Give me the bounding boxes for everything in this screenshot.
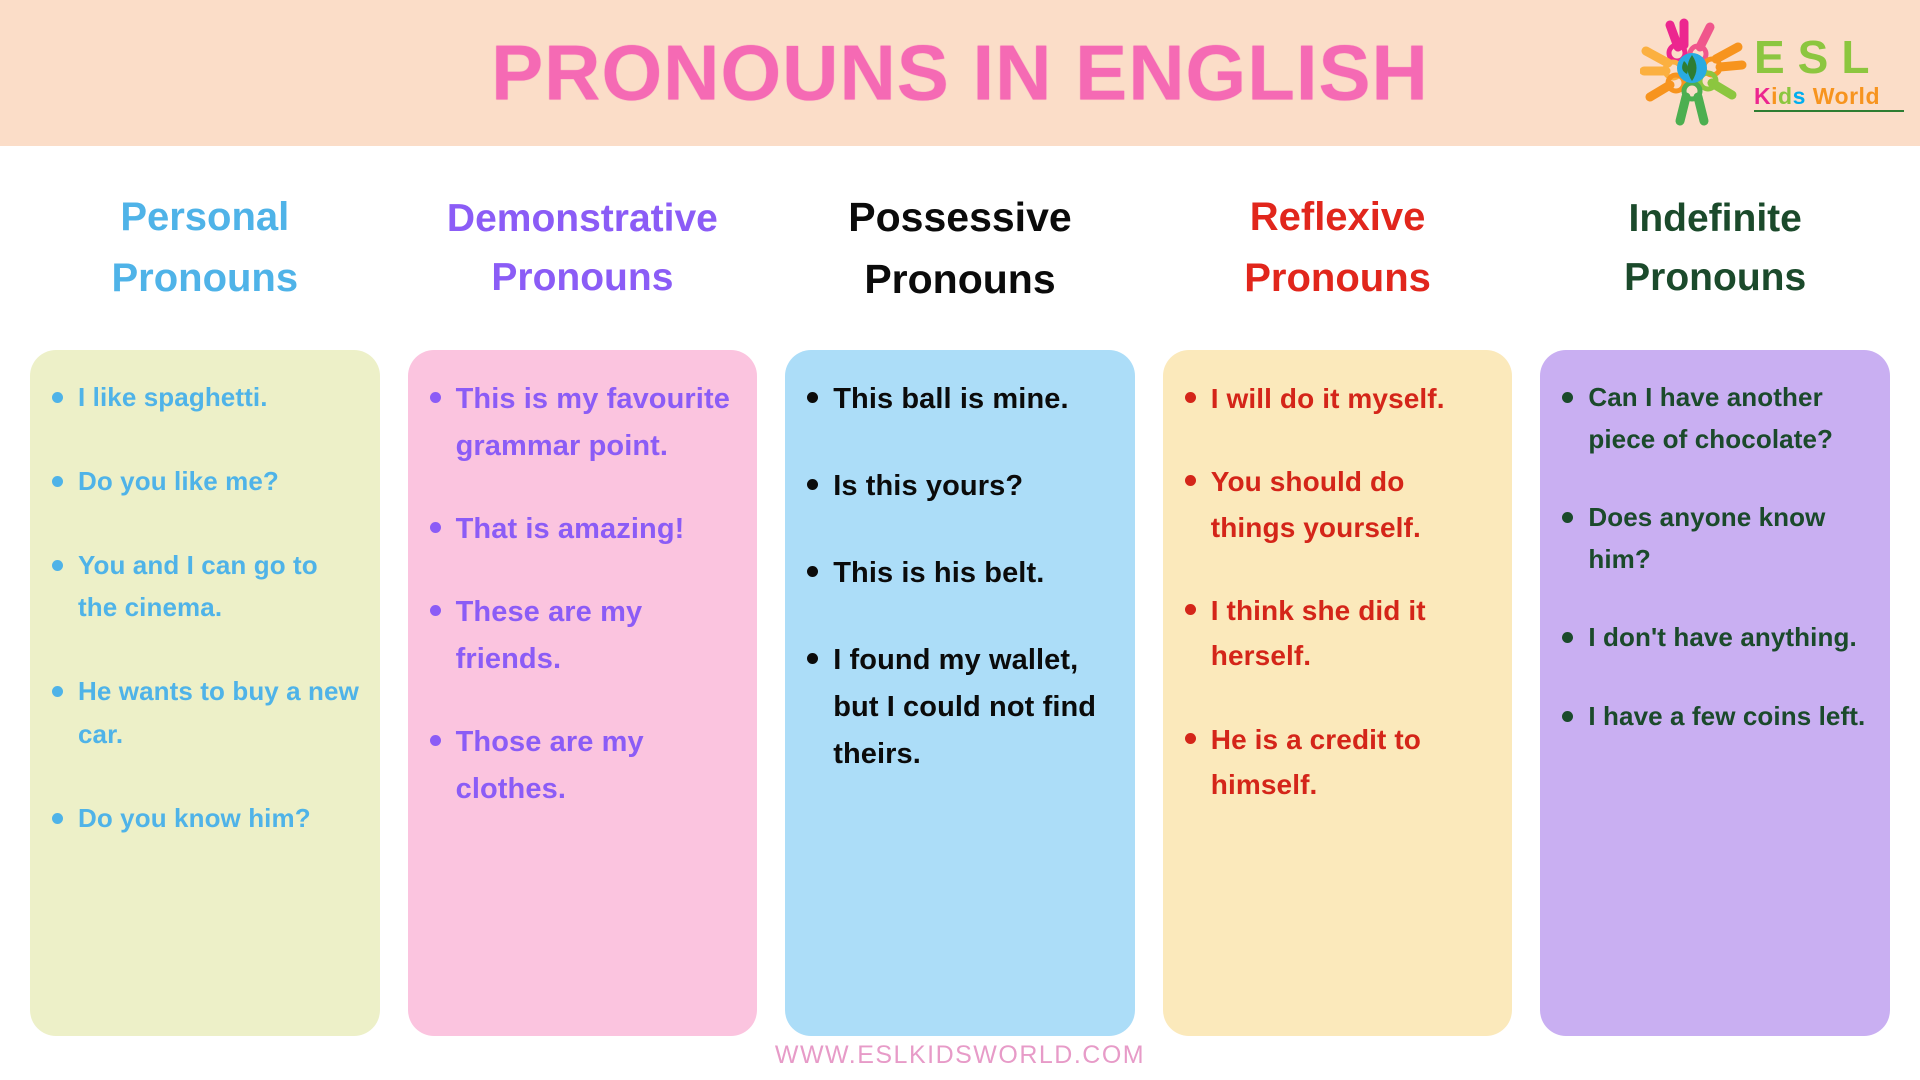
card-indefinite: Can I have another piece of chocolate? D… [1540,350,1890,1036]
list-item: Can I have another piece of chocolate? [1554,376,1872,460]
heading-line-2: Pronouns [1624,248,1806,307]
list-item-text: These are my friends. [456,596,643,675]
heading-line-1: Reflexive [1250,187,1426,248]
example-list-possessive: This ball is mine. Is this yours? This i… [799,376,1117,778]
column-personal: Personal Pronouns I like spaghetti. Do y… [30,146,380,1036]
card-personal: I like spaghetti. Do you like me? You an… [30,350,380,1036]
list-item: This ball is mine. [799,376,1117,423]
list-item-text: I think she did it herself. [1211,595,1426,671]
bullet-dot [1562,512,1573,523]
list-item: I think she did it herself. [1177,588,1495,679]
bullet-dot [1185,475,1196,486]
bullet-dot [430,522,441,533]
bullet-dot [52,686,63,697]
bullet-dot [52,476,63,487]
list-item-text: Can I have another piece of chocolate? [1588,382,1833,454]
list-item-text: He wants to buy a new car. [78,676,359,748]
list-item: Do you like me? [44,460,362,502]
pronoun-columns: Personal Pronouns I like spaghetti. Do y… [0,146,1920,1036]
bullet-dot [430,392,441,403]
list-item: Does anyone know him? [1554,496,1872,580]
esl-kids-world-logo: ESL Kids World [1640,12,1892,134]
column-possessive: Possessive Pronouns This ball is mine. I… [785,146,1135,1036]
list-item-text: This ball is mine. [833,383,1068,415]
list-item-text: Do you like me? [78,466,279,496]
header-band: PRONOUNS IN ENGLISH [0,0,1920,146]
list-item: You should do things yourself. [1177,459,1495,550]
list-item: I will do it myself. [1177,376,1495,421]
list-item-text: I found my wallet, but I could not find … [833,644,1096,770]
column-indefinite: Indefinite Pronouns Can I have another p… [1540,146,1890,1036]
list-item-text: He is a credit to himself. [1211,724,1421,800]
infographic-page: PRONOUNS IN ENGLISH [0,0,1920,1080]
column-demonstrative: Demonstrative Pronouns This is my favour… [408,146,758,1036]
bullet-dot [1185,392,1196,403]
bullet-dot [807,479,818,490]
footer-url: WWW.ESLKIDSWORLD.COM [0,1041,1920,1070]
card-demonstrative: This is my favourite grammar point. That… [408,350,758,1036]
list-item-text: This is my favourite grammar point. [456,383,730,462]
list-item: I like spaghetti. [44,376,362,418]
bullet-dot [807,653,818,664]
logo-wordmark: ESL Kids World [1754,34,1904,112]
logo-underline [1754,110,1904,112]
logo-tagline: Kids World [1754,84,1904,108]
list-item-text: You and I can go to the cinema. [78,550,318,622]
logo-esl-text: ESL [1754,34,1904,80]
heading-line-2: Pronouns [491,248,673,307]
list-item-text: You should do things yourself. [1211,466,1421,542]
list-item-text: Do you know him? [78,803,311,833]
list-item-text: That is amazing! [456,513,685,545]
heading-line-1: Possessive [848,186,1071,248]
list-item-text: Those are my clothes. [456,726,644,805]
list-item-text: I don't have anything. [1588,622,1856,652]
heading-line-1: Personal [120,187,289,248]
list-item: He is a credit to himself. [1177,717,1495,808]
list-item: That is amazing! [422,506,740,553]
bullet-dot [430,735,441,746]
bullet-dot [1562,711,1573,722]
heading-line-2: Pronouns [111,248,298,309]
example-list-indefinite: Can I have another piece of chocolate? D… [1554,376,1872,737]
column-heading-indefinite: Indefinite Pronouns [1540,146,1890,350]
example-list-demonstrative: This is my favourite grammar point. That… [422,376,740,813]
list-item: I found my wallet, but I could not find … [799,637,1117,778]
column-heading-possessive: Possessive Pronouns [785,146,1135,350]
list-item-text: Does anyone know him? [1588,502,1825,574]
list-item: This is his belt. [799,550,1117,597]
bullet-dot [1562,632,1573,643]
bullet-dot [52,392,63,403]
page-title: PRONOUNS IN ENGLISH [0,28,1920,119]
heading-line-1: Demonstrative [447,189,718,248]
heading-line-1: Indefinite [1629,189,1802,248]
heading-line-2: Pronouns [1244,248,1431,309]
heading-line-2: Pronouns [864,248,1055,310]
bullet-dot [807,566,818,577]
example-list-reflexive: I will do it myself. You should do thing… [1177,376,1495,808]
bullet-dot [1562,392,1573,403]
bullet-dot [1185,733,1196,744]
bullet-dot [430,605,441,616]
list-item-text: I like spaghetti. [78,382,268,412]
column-heading-reflexive: Reflexive Pronouns [1163,146,1513,350]
column-heading-personal: Personal Pronouns [30,146,380,350]
list-item-text: I have a few coins left. [1588,701,1865,731]
list-item: This is my favourite grammar point. [422,376,740,470]
example-list-personal: I like spaghetti. Do you like me? You an… [44,376,362,839]
list-item-text: Is this yours? [833,470,1023,502]
list-item-text: This is his belt. [833,557,1044,589]
bullet-dot [52,813,63,824]
bullet-dot [807,392,818,403]
list-item: He wants to buy a new car. [44,670,362,754]
list-item: You and I can go to the cinema. [44,544,362,628]
card-reflexive: I will do it myself. You should do thing… [1163,350,1513,1036]
children-around-globe-icon [1640,17,1748,129]
column-reflexive: Reflexive Pronouns I will do it myself. … [1163,146,1513,1036]
list-item: Those are my clothes. [422,719,740,813]
bullet-dot [52,560,63,571]
column-heading-demonstrative: Demonstrative Pronouns [408,146,758,350]
card-possessive: This ball is mine. Is this yours? This i… [785,350,1135,1036]
list-item-text: I will do it myself. [1211,383,1445,414]
list-item: Is this yours? [799,463,1117,510]
list-item: I have a few coins left. [1554,695,1872,737]
bullet-dot [1185,604,1196,615]
list-item: Do you know him? [44,797,362,839]
list-item: I don't have anything. [1554,616,1872,658]
list-item: These are my friends. [422,589,740,683]
